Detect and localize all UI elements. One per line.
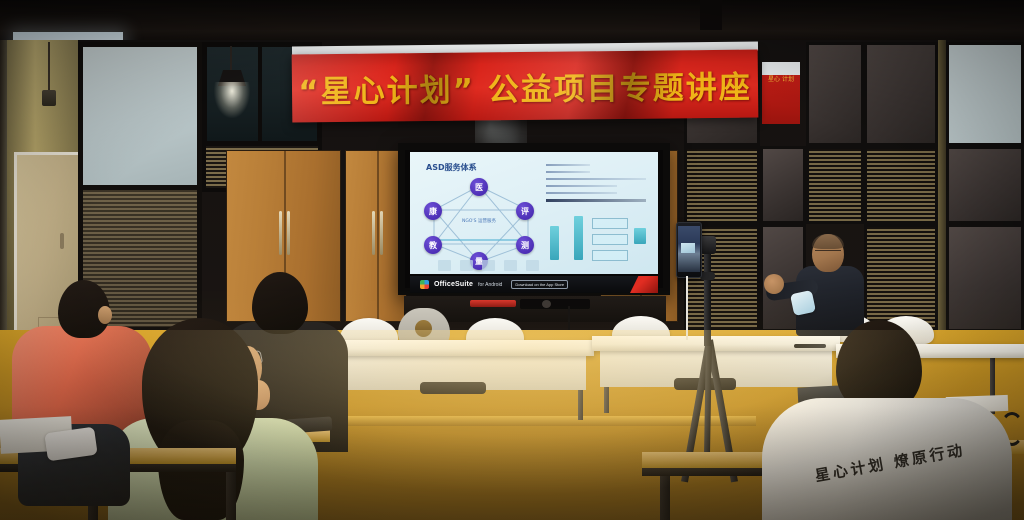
- device-knob: [542, 300, 551, 308]
- node-rehab: 康: [424, 202, 442, 220]
- audience-ear: [98, 306, 112, 324]
- wall-edge-strip: [0, 40, 7, 330]
- slide-thumbnail: [504, 260, 517, 271]
- partition-post: [938, 40, 946, 332]
- slide-bullet-line: [546, 171, 590, 173]
- chart-bar: [550, 226, 559, 260]
- node-evaluate: 评: [516, 202, 534, 220]
- asd-service-hexagon-diagram: 医 评 测 康 教 量 NGO'S 运营服务: [418, 174, 540, 270]
- slide-chart: [546, 212, 650, 264]
- corner-ribbon: [630, 276, 658, 293]
- officesuite-logo: [420, 280, 429, 289]
- smartphone-preview-slide: [681, 243, 695, 253]
- slide-thumbnail: [482, 260, 495, 271]
- window-blinds: [684, 146, 760, 224]
- glass-partition-panel: [760, 146, 806, 224]
- slide-bullet-line: [546, 178, 646, 180]
- speaker-hand: [764, 274, 784, 294]
- officesuite-watermark-bar: OfficeSuite for Android Download on the …: [410, 276, 658, 293]
- glass-partition-panel: [946, 42, 1024, 146]
- lecture-room-photo: 星心 计划 “星心计划” 公益项目专题讲座 ASD服务体系 医 评 测 康 教 …: [0, 0, 1024, 520]
- glass-partition-panel: [806, 42, 864, 146]
- chart-result-block: [634, 228, 646, 244]
- slide-title: ASD服务体系: [426, 162, 477, 173]
- slide-bullet-line: [546, 185, 617, 187]
- hanging-cord: [48, 42, 50, 92]
- event-banner: “星心计划” 公益项目专题讲座: [292, 50, 759, 123]
- chart-box: [592, 218, 628, 229]
- hexagon-center-label: NGO'S 运营服务: [448, 218, 510, 224]
- ceiling-duct: [700, 0, 722, 30]
- slide-thumbnail: [438, 260, 451, 271]
- presentation-slide: ASD服务体系 医 评 测 康 教 量 NGO'S 运营服务: [410, 152, 658, 274]
- node-educate: 教: [424, 236, 442, 254]
- chart-bar: [574, 216, 583, 260]
- av-receiver: [520, 299, 590, 309]
- poster-top-strip: [762, 62, 800, 75]
- audience-black-shirt-head: [252, 272, 308, 334]
- window-blinds: [806, 146, 864, 224]
- floor-reflection: [0, 330, 1024, 520]
- slide-bullet-line: [546, 199, 646, 202]
- tripod-phone-mount: [700, 236, 716, 254]
- app-store-badge[interactable]: Download on the App Store: [511, 280, 568, 289]
- window-blinds: [864, 146, 938, 224]
- door-handle[interactable]: [60, 233, 64, 249]
- speaker-glasses: [815, 250, 841, 256]
- red-device: [470, 300, 516, 307]
- slide-bullet-line: [546, 192, 617, 194]
- chart-box: [592, 234, 628, 245]
- tripod-adjust-knob[interactable]: [700, 272, 715, 280]
- slide-thumbnail: [526, 260, 539, 271]
- slide-bullet-line: [546, 164, 590, 166]
- secondary-poster-text: 星心 计划: [766, 76, 796, 120]
- face-mask: [790, 290, 816, 316]
- glass-partition-panel: [864, 42, 938, 146]
- glass-partition-panel: [946, 146, 1024, 224]
- frosted-glass-panel: [78, 42, 202, 190]
- glass-partition-panel: [946, 224, 1024, 332]
- slide-thumbnail: [460, 260, 473, 271]
- slide-bullet-list: [546, 164, 650, 207]
- officesuite-name: OfficeSuite: [434, 281, 473, 288]
- pendant-lamp-cord: [230, 46, 232, 72]
- node-measure: 测: [516, 236, 534, 254]
- pendant-lamp-glow: [214, 82, 250, 118]
- node-medical: 医: [470, 178, 488, 196]
- wall-junction-box: [42, 90, 56, 106]
- officesuite-subtitle: for Android: [478, 282, 502, 288]
- event-banner-text: “星心计划” 公益项目专题讲座: [298, 61, 752, 111]
- slide-thumbnail-row: [438, 260, 628, 272]
- window-mullion: [258, 46, 262, 142]
